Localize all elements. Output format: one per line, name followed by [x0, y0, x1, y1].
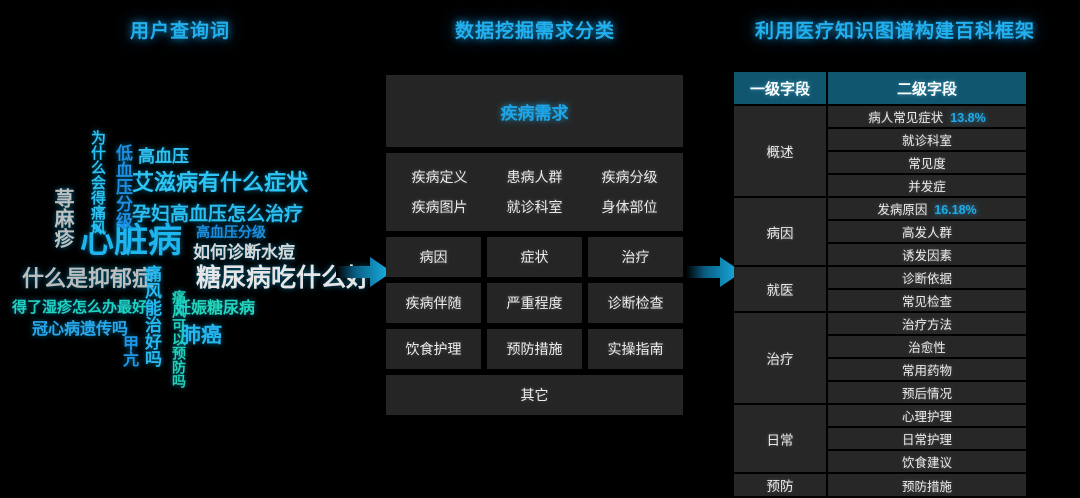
th-level1: 一级字段	[734, 72, 826, 104]
word-cloud-term: 艾滋病有什么症状	[132, 172, 308, 194]
demand-category-rows: 病因症状治疗疾病伴随严重程度诊断检查饮食护理预防措施实操指南	[386, 237, 683, 369]
table-cell-level2[interactable]: 预后情况	[828, 382, 1026, 403]
word-cloud-term: 为什么会得痛风	[90, 130, 105, 235]
word-cloud-term: 甲亢	[120, 335, 136, 367]
word-cloud-term: 得了湿疹怎么办最好	[12, 300, 147, 315]
table-row: 病因发病原因 16.18%	[734, 198, 1026, 219]
table-row: 就医诊断依据	[734, 267, 1026, 288]
table-cell-level2[interactable]: 预防措施	[828, 474, 1026, 496]
field-label: 饮食建议	[902, 456, 952, 470]
field-label: 常见检查	[902, 295, 952, 309]
demand-classification-panel: 疾病需求 疾病定义患病人群疾病分级疾病图片就诊科室身体部位 病因症状治疗疾病伴随…	[386, 75, 683, 415]
table-cell-level1[interactable]: 就医	[734, 267, 826, 311]
table-cell-level2[interactable]: 高发人群	[828, 221, 1026, 242]
demand-category-cell[interactable]: 疾病伴随	[386, 283, 481, 323]
word-cloud-term: 痛风能治好吗	[143, 265, 160, 367]
demand-category-cell[interactable]: 严重程度	[487, 283, 582, 323]
table-cell-level2[interactable]: 常用药物	[828, 359, 1026, 380]
table-cell-level2[interactable]: 日常护理	[828, 428, 1026, 449]
demand-category-cell[interactable]: 实操指南	[588, 329, 683, 369]
table-cell-level2[interactable]: 并发症	[828, 175, 1026, 196]
demand-category-cell[interactable]: 治疗	[588, 237, 683, 277]
arrow-right-1-icon	[336, 255, 392, 289]
table-cell-level2[interactable]: 心理护理	[828, 405, 1026, 426]
field-label: 发病原因	[877, 203, 927, 217]
demand-category-cell[interactable]: 预防措施	[487, 329, 582, 369]
slide-canvas: 用户查询词 数据挖掘需求分类 利用医疗知识图谱构建百科框架 心脏病糖尿病吃什么好…	[0, 0, 1080, 480]
disease-attribute-item[interactable]: 疾病定义	[392, 167, 487, 187]
word-cloud-term: 妊娠糖尿病	[175, 301, 255, 317]
table-cell-level1[interactable]: 病因	[734, 198, 826, 265]
table-cell-level2[interactable]: 常见度	[828, 152, 1026, 173]
demand-category-cell[interactable]: 饮食护理	[386, 329, 481, 369]
th-level2: 二级字段	[828, 72, 1026, 104]
disease-attribute-item[interactable]: 疾病图片	[392, 197, 487, 217]
word-cloud-term: 荨麻疹	[52, 188, 72, 248]
page-title-demand-classification: 数据挖掘需求分类	[360, 16, 710, 43]
word-cloud-term: 冠心病遗传吗	[32, 322, 128, 338]
field-label: 病人常见症状	[868, 111, 943, 125]
table-row: 治疗治疗方法	[734, 313, 1026, 334]
word-cloud-term: 高血压	[138, 148, 189, 165]
table-cell-level2[interactable]: 常见检查	[828, 290, 1026, 311]
table-header-row: 一级字段 二级字段	[734, 72, 1026, 104]
word-cloud-term: 痛风可以预防吗	[172, 290, 186, 388]
table-cell-level2[interactable]: 就诊科室	[828, 129, 1026, 150]
table-cell-level2[interactable]: 诊断依据	[828, 267, 1026, 288]
field-label: 心理护理	[902, 410, 952, 424]
table-cell-level2[interactable]: 病人常见症状 13.8%	[828, 106, 1026, 127]
field-label: 就诊科室	[902, 134, 952, 148]
field-label: 高发人群	[902, 226, 952, 240]
disease-attribute-item[interactable]: 疾病分级	[582, 167, 677, 187]
table-cell-level1[interactable]: 预防	[734, 474, 826, 496]
table-row: 预防预防措施	[734, 474, 1026, 496]
table-cell-level2[interactable]: 饮食建议	[828, 451, 1026, 472]
page-title-user-queries: 用户查询词	[0, 16, 360, 43]
page-title-knowledge-graph: 利用医疗知识图谱构建百科框架	[710, 16, 1080, 43]
demand-other-cell[interactable]: 其它	[386, 375, 683, 415]
table-cell-level1[interactable]: 日常	[734, 405, 826, 472]
table-row: 概述病人常见症状 13.8%	[734, 106, 1026, 127]
word-cloud-term: 孕妇高血压怎么治疗	[132, 205, 303, 224]
disease-attribute-item[interactable]: 就诊科室	[487, 197, 582, 217]
disease-attribute-item[interactable]: 患病人群	[487, 167, 582, 187]
table-cell-level1[interactable]: 治疗	[734, 313, 826, 403]
field-label: 治疗方法	[902, 318, 952, 332]
word-cloud: 心脏病糖尿病吃什么好艾滋病有什么症状孕妇高血压怎么治疗什么是抑郁症得了湿疹怎么办…	[0, 60, 365, 480]
demand-category-cell[interactable]: 诊断检查	[588, 283, 683, 323]
field-label: 预防措施	[902, 480, 952, 494]
field-percentage: 16.18%	[927, 203, 976, 217]
word-cloud-term: 什么是抑郁症	[22, 268, 154, 290]
table-cell-level1[interactable]: 概述	[734, 106, 826, 196]
demand-category-cell[interactable]: 症状	[487, 237, 582, 277]
table-row: 日常心理护理	[734, 405, 1026, 426]
knowledge-graph-field-table: 一级字段 二级字段 概述病人常见症状 13.8%就诊科室常见度并发症病因发病原因…	[732, 70, 1028, 498]
disease-attribute-grid: 疾病定义患病人群疾病分级疾病图片就诊科室身体部位	[386, 153, 683, 231]
field-label: 诊断依据	[902, 272, 952, 286]
table-cell-level2[interactable]: 发病原因 16.18%	[828, 198, 1026, 219]
word-cloud-term: 高血压分级	[196, 225, 266, 239]
disease-demand-root[interactable]: 疾病需求	[386, 75, 683, 147]
word-cloud-term: 如何诊断水痘	[193, 244, 295, 261]
table-cell-level2[interactable]: 诱发因素	[828, 244, 1026, 265]
demand-category-cell[interactable]: 病因	[386, 237, 481, 277]
demand-category-row: 疾病伴随严重程度诊断检查	[386, 283, 683, 323]
demand-category-row: 饮食护理预防措施实操指南	[386, 329, 683, 369]
field-label: 常用药物	[902, 364, 952, 378]
field-label: 常见度	[908, 157, 946, 171]
demand-category-row: 病因症状治疗	[386, 237, 683, 277]
disease-attribute-item[interactable]: 身体部位	[582, 197, 677, 217]
table-cell-level2[interactable]: 治愈性	[828, 336, 1026, 357]
word-cloud-term: 低血压分级	[114, 144, 131, 229]
field-label: 并发症	[908, 180, 946, 194]
field-label: 预后情况	[902, 387, 952, 401]
field-label: 日常护理	[902, 433, 952, 447]
table-cell-level2[interactable]: 治疗方法	[828, 313, 1026, 334]
field-label: 治愈性	[908, 341, 946, 355]
field-percentage: 13.8%	[943, 111, 985, 125]
field-label: 诱发因素	[902, 249, 952, 263]
